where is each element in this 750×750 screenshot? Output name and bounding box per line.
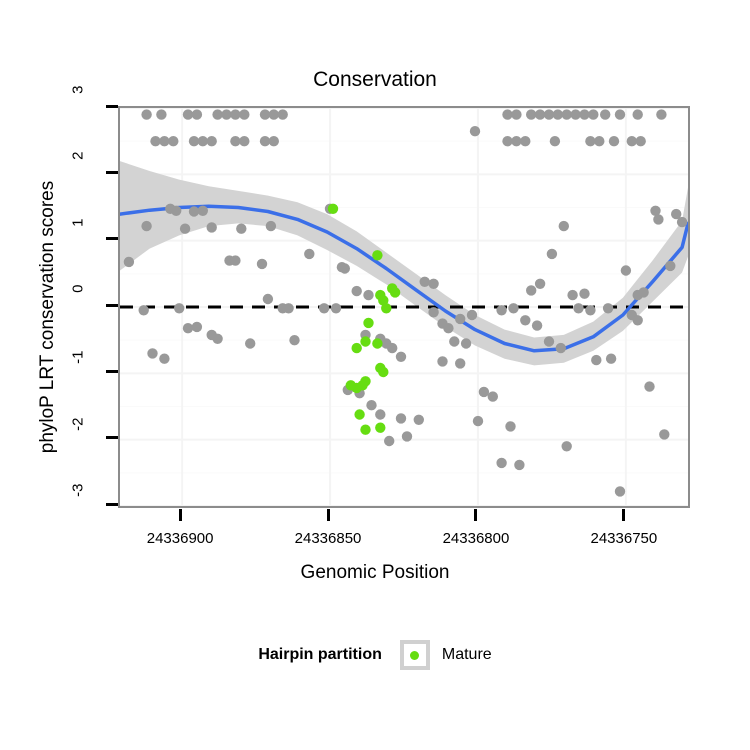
data-point-other: [479, 387, 489, 397]
data-point-other: [636, 136, 646, 146]
data-point-other: [212, 109, 222, 119]
legend: Hairpin partition Mature: [0, 640, 750, 670]
data-point-other: [547, 249, 557, 259]
y-tick-label: -2: [70, 417, 87, 457]
data-point-other: [141, 109, 151, 119]
data-point-other: [585, 305, 595, 315]
data-point-other: [562, 441, 572, 451]
data-point-other: [656, 109, 666, 119]
data-point-other: [207, 222, 217, 232]
data-point-other: [257, 259, 267, 269]
data-point-other: [579, 289, 589, 299]
data-point-other: [414, 415, 424, 425]
data-point-other: [428, 307, 438, 317]
y-tick-label: -1: [70, 351, 87, 391]
data-point-other: [230, 136, 240, 146]
data-point-other: [207, 136, 217, 146]
data-point-other: [677, 217, 687, 227]
data-point-other: [473, 416, 483, 426]
data-point-mature: [378, 367, 388, 377]
data-point-other: [553, 109, 563, 119]
data-point-other: [366, 400, 376, 410]
data-point-other: [591, 355, 601, 365]
data-point-other: [387, 343, 397, 353]
data-point-other: [266, 221, 276, 231]
y-tick-mark: [106, 237, 118, 240]
data-point-other: [609, 136, 619, 146]
data-point-other: [168, 136, 178, 146]
data-point-other: [603, 303, 613, 313]
data-point-other: [221, 109, 231, 119]
data-point-other: [139, 305, 149, 315]
data-point-other: [239, 136, 249, 146]
data-point-other: [189, 206, 199, 216]
data-point-mature: [372, 250, 382, 260]
x-tick-label: 24336900: [115, 530, 245, 547]
data-point-other: [520, 136, 530, 146]
data-point-other: [520, 315, 530, 325]
data-point-other: [159, 354, 169, 364]
chart-stage: Conservation phyloP LRT conservation sco…: [0, 0, 750, 750]
data-point-other: [180, 224, 190, 234]
data-point-other: [615, 486, 625, 496]
data-point-other: [198, 136, 208, 146]
data-point-other: [455, 314, 465, 324]
x-tick-label: 24336800: [411, 530, 541, 547]
data-point-mature: [352, 343, 362, 353]
data-point-other: [384, 436, 394, 446]
data-point-other: [461, 338, 471, 348]
legend-dot-icon: [410, 651, 419, 660]
data-point-other: [269, 136, 279, 146]
data-point-other: [606, 354, 616, 364]
x-tick-label: 24336750: [559, 530, 689, 547]
chart-title: Conservation: [0, 68, 750, 92]
data-point-mature: [360, 425, 370, 435]
plot-svg: [120, 108, 688, 506]
data-point-other: [455, 358, 465, 368]
data-point-other: [588, 109, 598, 119]
data-point-mature: [354, 409, 364, 419]
data-point-other: [665, 261, 675, 271]
data-point-other: [124, 257, 134, 267]
y-tick-mark: [106, 105, 118, 108]
y-axis-label: phyloP LRT conservation scores: [37, 117, 59, 517]
data-point-other: [230, 255, 240, 265]
data-point-mature: [328, 204, 338, 214]
y-tick-label: 2: [70, 152, 87, 192]
data-point-other: [535, 279, 545, 289]
y-tick-label: 3: [70, 86, 87, 126]
data-point-other: [544, 336, 554, 346]
data-point-other: [526, 109, 536, 119]
data-point-other: [511, 136, 521, 146]
data-point-other: [644, 381, 654, 391]
x-tick-label: 24336850: [263, 530, 393, 547]
data-point-other: [304, 249, 314, 259]
data-point-other: [526, 285, 536, 295]
data-point-other: [633, 109, 643, 119]
legend-key-mature: [400, 640, 430, 670]
data-point-other: [573, 303, 583, 313]
x-tick-mark: [474, 509, 477, 521]
data-point-other: [443, 323, 453, 333]
data-point-other: [562, 109, 572, 119]
data-point-other: [147, 348, 157, 358]
data-point-other: [570, 109, 580, 119]
data-point-other: [402, 431, 412, 441]
data-point-other: [269, 109, 279, 119]
data-point-other: [171, 206, 181, 216]
data-point-other: [289, 335, 299, 345]
data-point-other: [535, 109, 545, 119]
data-point-other: [496, 305, 506, 315]
data-point-other: [331, 303, 341, 313]
data-point-other: [236, 224, 246, 234]
data-point-other: [594, 136, 604, 146]
y-tick-label: 0: [70, 285, 87, 325]
data-point-other: [514, 460, 524, 470]
data-point-other: [192, 322, 202, 332]
data-point-other: [156, 109, 166, 119]
data-point-other: [627, 136, 637, 146]
data-point-mature: [381, 303, 391, 313]
y-tick-mark: [106, 503, 118, 506]
data-point-other: [502, 109, 512, 119]
legend-label-mature: Mature: [442, 646, 492, 664]
y-tick-mark: [106, 304, 118, 307]
data-point-other: [396, 413, 406, 423]
data-point-other: [375, 409, 385, 419]
data-point-other: [420, 277, 430, 287]
data-point-other: [159, 136, 169, 146]
data-point-other: [245, 338, 255, 348]
x-axis-label: Genomic Position: [0, 562, 750, 584]
data-point-other: [502, 136, 512, 146]
data-point-other: [653, 214, 663, 224]
data-point-other: [449, 336, 459, 346]
data-point-other: [352, 286, 362, 296]
data-point-other: [467, 310, 477, 320]
data-point-other: [638, 287, 648, 297]
data-point-other: [428, 279, 438, 289]
data-point-other: [230, 109, 240, 119]
y-tick-label: 1: [70, 218, 87, 258]
data-point-other: [437, 356, 447, 366]
y-tick-mark: [106, 436, 118, 439]
y-tick-mark: [106, 370, 118, 373]
data-point-other: [556, 343, 566, 353]
x-tick-mark: [179, 509, 182, 521]
x-tick-mark: [622, 509, 625, 521]
data-point-other: [470, 126, 480, 136]
data-point-other: [505, 421, 515, 431]
data-point-other: [263, 294, 273, 304]
legend-title: Hairpin partition: [258, 646, 382, 664]
data-point-other: [659, 429, 669, 439]
data-point-other: [396, 352, 406, 362]
data-point-other: [198, 206, 208, 216]
data-point-other: [150, 136, 160, 146]
data-point-other: [532, 320, 542, 330]
data-point-other: [183, 109, 193, 119]
data-point-other: [141, 221, 151, 231]
data-point-mature: [372, 338, 382, 348]
data-point-other: [508, 303, 518, 313]
data-point-other: [615, 109, 625, 119]
data-point-mature: [346, 380, 356, 390]
data-point-other: [496, 458, 506, 468]
data-point-other: [363, 290, 373, 300]
data-point-mature: [360, 336, 370, 346]
plot-panel: [118, 106, 690, 508]
data-point-other: [212, 334, 222, 344]
x-tick-mark: [327, 509, 330, 521]
data-point-other: [174, 303, 184, 313]
data-point-other: [633, 315, 643, 325]
data-point-mature: [375, 423, 385, 433]
data-point-other: [600, 109, 610, 119]
data-point-other: [192, 109, 202, 119]
data-point-other: [183, 323, 193, 333]
data-point-other: [278, 109, 288, 119]
data-point-other: [488, 391, 498, 401]
y-tick-mark: [106, 171, 118, 174]
data-point-other: [239, 109, 249, 119]
data-point-other: [511, 109, 521, 119]
data-point-other: [567, 290, 577, 300]
data-point-mature: [363, 318, 373, 328]
data-point-mature: [390, 287, 400, 297]
data-point-other: [319, 303, 329, 313]
data-point-other: [559, 221, 569, 231]
data-point-other: [340, 263, 350, 273]
data-point-other: [621, 265, 631, 275]
data-point-other: [550, 136, 560, 146]
data-point-other: [585, 136, 595, 146]
data-point-other: [283, 303, 293, 313]
y-tick-label: -3: [70, 484, 87, 524]
confidence-band: [120, 161, 688, 365]
